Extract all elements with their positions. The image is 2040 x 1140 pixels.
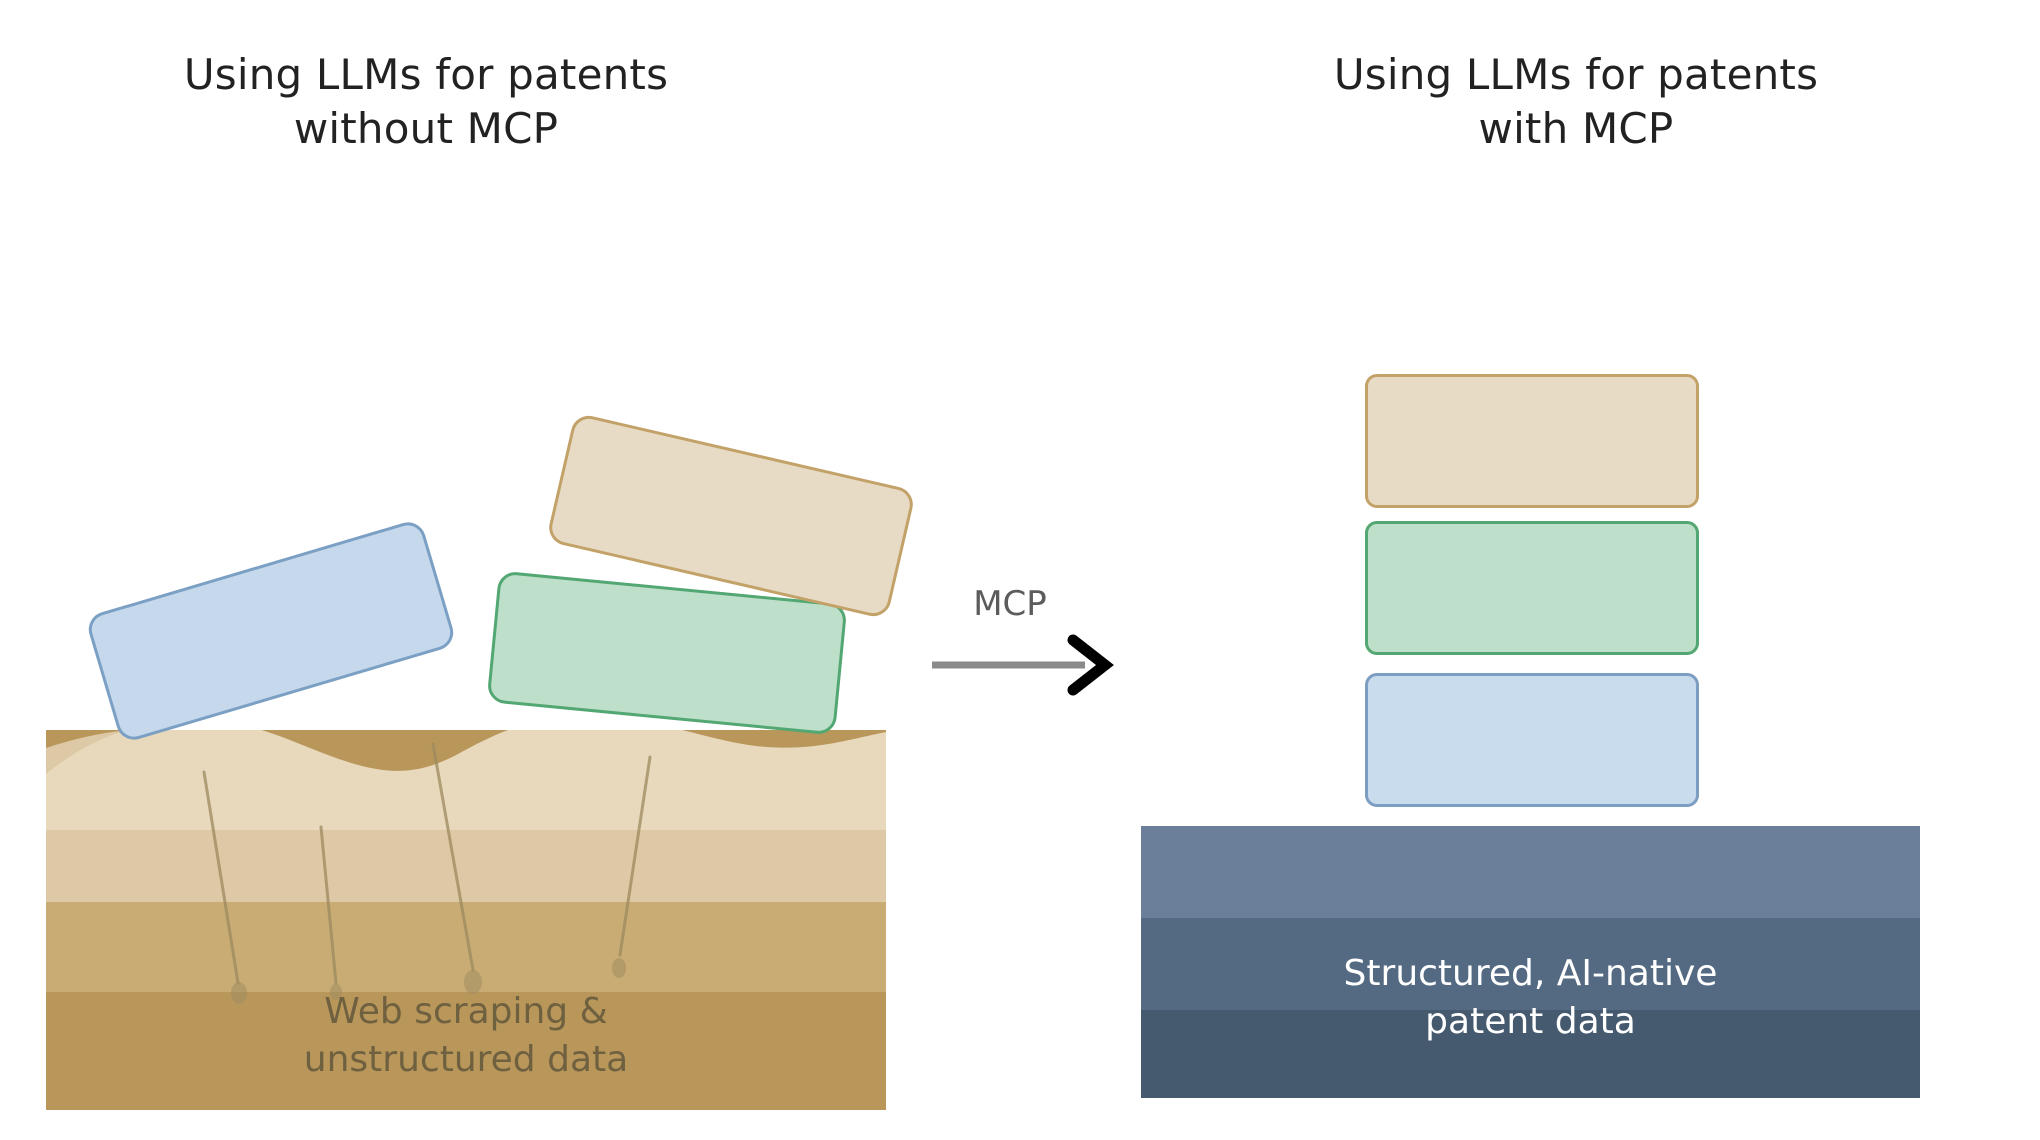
right-card-blue[interactable]	[1365, 673, 1699, 807]
mcp-arrow-icon	[930, 630, 1120, 700]
unstructured-ground	[46, 730, 886, 1110]
right-panel-title: Using LLMs for patents with MCP	[1236, 48, 1916, 156]
structured-base	[1141, 826, 1920, 1098]
left-panel-title: Using LLMs for patents without MCP	[86, 48, 766, 156]
slab-band-bottom	[1141, 1010, 1920, 1098]
slab-band-top	[1141, 826, 1920, 918]
mcp-connector-label: MCP	[900, 584, 1120, 624]
right-card-tan[interactable]	[1365, 374, 1699, 508]
left-card-blue[interactable]	[84, 518, 457, 744]
diagram-canvas: Using LLMs for patents without MCP	[0, 0, 2040, 1140]
right-card-green[interactable]	[1365, 521, 1699, 655]
slab-band-middle	[1141, 918, 1920, 1010]
